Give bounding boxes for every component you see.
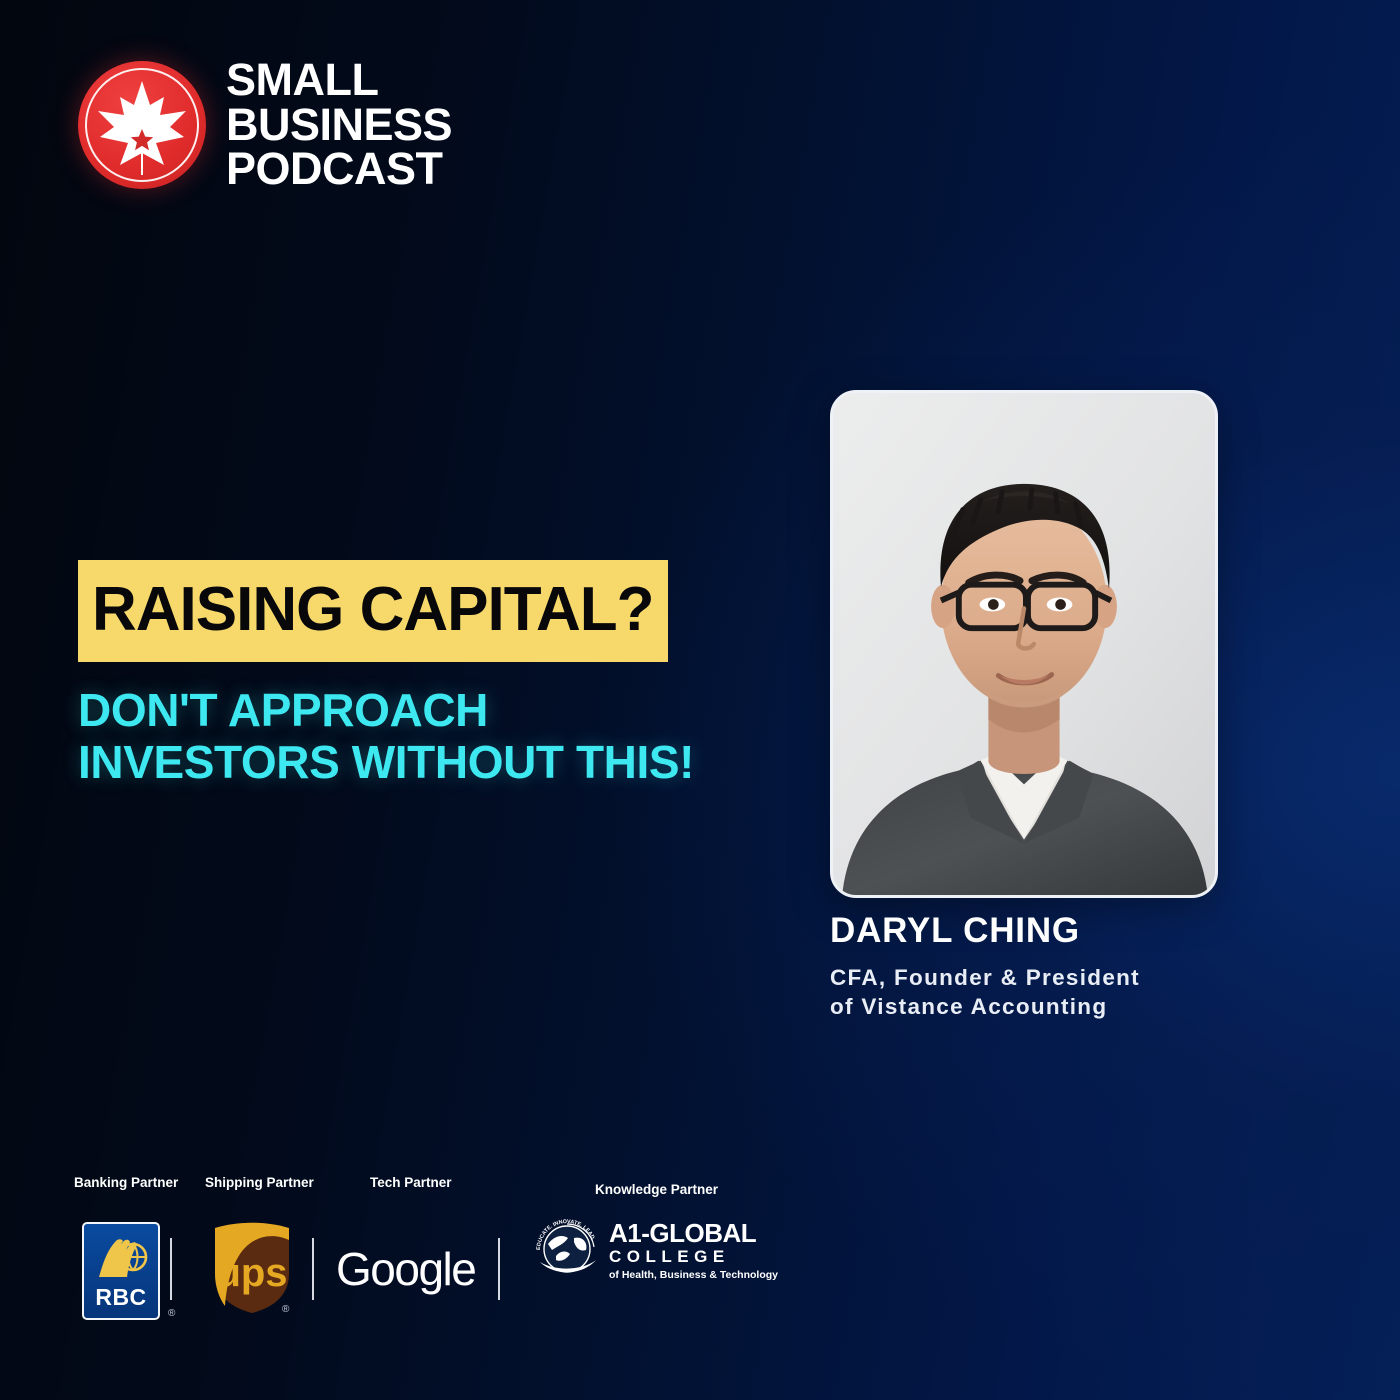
google-logo[interactable]: Google — [336, 1242, 475, 1296]
ups-shield-icon: ups — [212, 1220, 292, 1315]
google-wordmark: Google — [336, 1242, 475, 1296]
rbc-registered-mark: ® — [168, 1308, 175, 1319]
partner-label-tech: Tech Partner — [370, 1175, 452, 1190]
brand-line-1: SMALL — [226, 58, 452, 103]
partner-divider-1 — [170, 1238, 172, 1300]
partner-label-knowledge: Knowledge Partner — [595, 1182, 718, 1197]
podcast-promo-canvas: SMALL BUSINESS PODCAST RAISING CAPITAL? … — [0, 0, 1400, 1400]
speaker-photo — [830, 390, 1218, 898]
svg-text:ups: ups — [216, 1251, 287, 1295]
a1-global-college-logo[interactable]: EDUCATE. INNOVATE. LEAD. A1-GLOBAL COLLE… — [534, 1218, 778, 1284]
headline-subtitle-line-2: INVESTORS WITHOUT THIS! — [78, 736, 838, 788]
speaker-name: DARYL CHING — [830, 912, 1250, 951]
speaker-caption: DARYL CHING CFA, Founder & President of … — [830, 912, 1250, 1022]
brand-line-2: BUSINESS — [226, 103, 452, 148]
a1-global-college-line: COLLEGE — [609, 1246, 778, 1269]
brand-line-3: PODCAST — [226, 147, 452, 192]
brand-logo: SMALL BUSINESS PODCAST — [78, 58, 452, 192]
partner-divider-3 — [498, 1238, 500, 1300]
a1-global-wordmark: A1-GLOBAL — [609, 1220, 778, 1246]
brand-wordmark: SMALL BUSINESS PODCAST — [226, 58, 452, 192]
speaker-role-line-1: CFA, Founder & President — [830, 963, 1250, 993]
partner-label-shipping: Shipping Partner — [205, 1175, 314, 1190]
headline-block: RAISING CAPITAL? DON'T APPROACH INVESTOR… — [78, 560, 838, 789]
speaker-role: CFA, Founder & President of Vistance Acc… — [830, 963, 1250, 1022]
partners-strip: Banking Partner Shipping Partner Tech Pa… — [0, 1160, 800, 1340]
headline-subtitle: DON'T APPROACH INVESTORS WITHOUT THIS! — [78, 684, 838, 789]
partner-divider-2 — [312, 1238, 314, 1300]
headline-highlight: RAISING CAPITAL? — [78, 560, 668, 662]
globe-icon: EDUCATE. INNOVATE. LEAD. — [534, 1218, 600, 1284]
maple-leaf-star-icon — [78, 61, 206, 189]
a1-global-tagline: of Health, Business & Technology — [609, 1269, 778, 1282]
rbc-wordmark: RBC — [95, 1284, 146, 1311]
speaker-role-line-2: of Vistance Accounting — [830, 992, 1250, 1022]
headline-subtitle-line-1: DON'T APPROACH — [78, 684, 838, 736]
ups-logo[interactable]: ups ® — [212, 1220, 292, 1315]
rbc-shield-icon: RBC — [82, 1222, 160, 1320]
ups-registered-mark: ® — [282, 1304, 289, 1315]
partner-label-banking: Banking Partner — [74, 1175, 178, 1190]
rbc-logo[interactable]: RBC ® — [82, 1222, 160, 1320]
